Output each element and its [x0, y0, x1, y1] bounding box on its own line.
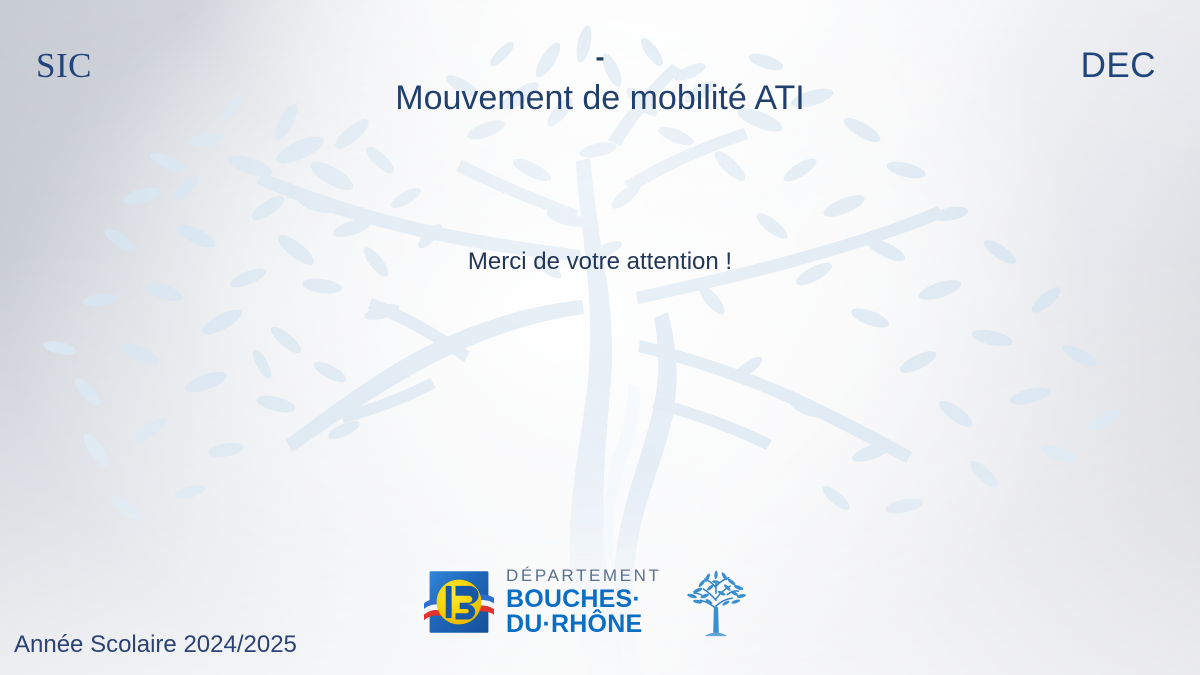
- presentation-slide: SIC DEC - Mouvement de mobilité ATI Merc…: [0, 0, 1200, 675]
- thank-you-message: Merci de votre attention !: [0, 248, 1200, 276]
- logo-wordmark: DÉPARTEMENT BOUCHES· DU·RHÔNE: [506, 567, 662, 637]
- slide-title-block: - Mouvement de mobilité ATI: [0, 44, 1200, 118]
- logo-department-word: DÉPARTEMENT: [506, 567, 662, 584]
- logo-name-line1: BOUCHES·: [506, 587, 662, 612]
- department-logo: DÉPARTEMENT BOUCHES· DU·RHÔNE: [424, 565, 752, 639]
- bouches-du-rhone-emblem-icon: [424, 567, 494, 637]
- logo-name-line2: DU·RHÔNE: [506, 612, 662, 637]
- school-year-note: Année Scolaire 2024/2025: [14, 631, 297, 659]
- page-title: Mouvement de mobilité ATI: [0, 78, 1200, 118]
- title-dash: -: [0, 44, 1200, 70]
- olive-tree-icon: [680, 565, 752, 639]
